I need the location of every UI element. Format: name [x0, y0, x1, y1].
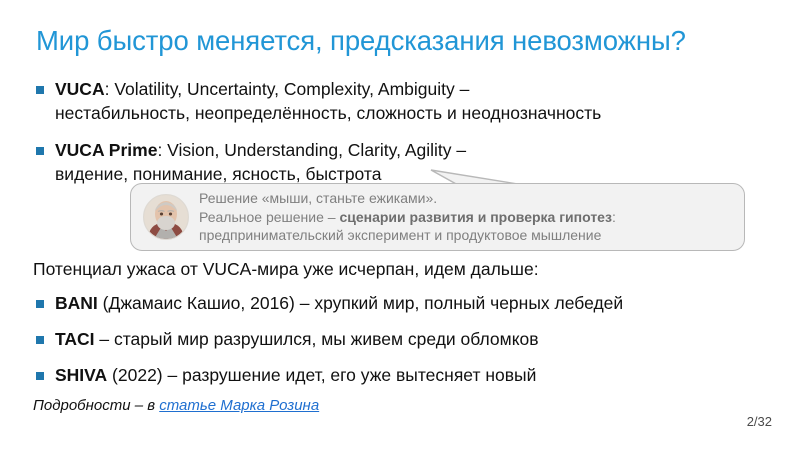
square-bullet-icon: [36, 86, 44, 94]
square-bullet-icon: [36, 336, 44, 344]
square-bullet-icon: [36, 300, 44, 308]
mid-paragraph: Потенциал ужаса от VUCA-мира уже исчерпа…: [33, 258, 539, 281]
bullet-item-taci: TACI – старый мир разрушился, мы живем с…: [36, 328, 766, 352]
bullet-text: VUCA: Volatility, Uncertainty, Complexit…: [55, 78, 601, 125]
bullet-text: TACI – старый мир разрушился, мы живем с…: [55, 328, 539, 352]
article-link[interactable]: статье Марка Розина: [159, 397, 319, 414]
bullet-item-shiva: SHIVA (2022) – разрушение идет, его уже …: [36, 364, 766, 388]
slide-canvas: Мир быстро меняется, предсказания невозм…: [0, 0, 800, 450]
avatar-photo-man: [143, 194, 189, 240]
bullet-line-1: Volatility, Uncertainty, Complexity, Amb…: [114, 79, 469, 99]
footer-note-prefix: Подробности – в: [33, 397, 159, 414]
bullet-rest: (Джамаис Кашио, 2016) – хрупкий мир, пол…: [98, 293, 623, 313]
square-bullet-icon: [36, 372, 44, 380]
bullet-text: BANI (Джамаис Кашио, 2016) – хрупкий мир…: [55, 292, 623, 316]
square-bullet-icon: [36, 147, 44, 155]
bullet-item-vuca-prime: VUCA Prime: Vision, Understanding, Clari…: [36, 139, 756, 186]
callout-line-1: Решение «мыши, станьте ежиками».: [199, 190, 437, 206]
callout-line-2-prefix: Реальное решение –: [199, 209, 339, 225]
bullet-rest: (2022) – разрушение идет, его уже вытесн…: [107, 365, 536, 385]
footer-note: Подробности – в статье Марка Розина: [33, 396, 319, 416]
bullet-term: SHIVA: [55, 365, 107, 385]
bullet-item-vuca: VUCA: Volatility, Uncertainty, Complexit…: [36, 78, 756, 125]
bullet-term: TACI: [55, 329, 95, 349]
callout-bubble: Решение «мыши, станьте ежиками». Реально…: [130, 183, 745, 251]
page-number: 2/32: [747, 414, 772, 429]
callout-line-3: предпринимательский эксперимент и продук…: [199, 227, 601, 243]
bullet-term: BANI: [55, 293, 98, 313]
bullet-line-2: видение, понимание, ясность, быстрота: [55, 164, 381, 184]
page-title: Мир быстро меняется, предсказания невозм…: [36, 24, 776, 58]
callout-text: Решение «мыши, станьте ежиками». Реально…: [199, 189, 616, 245]
bullet-item-bani: BANI (Джамаис Кашио, 2016) – хрупкий мир…: [36, 292, 766, 316]
bullet-rest: – старый мир разрушился, мы живем среди …: [95, 329, 539, 349]
bullet-separator: :: [157, 140, 167, 160]
bullet-text: VUCA Prime: Vision, Understanding, Clari…: [55, 139, 466, 186]
callout-line-2-suffix: :: [612, 209, 616, 225]
bullet-term: VUCA Prime: [55, 140, 157, 160]
bullet-line-1: Vision, Understanding, Clarity, Agility …: [167, 140, 466, 160]
bullet-text: SHIVA (2022) – разрушение идет, его уже …: [55, 364, 536, 388]
bullet-line-2: нестабильность, неопределённость, сложно…: [55, 103, 601, 123]
bullet-separator: :: [105, 79, 115, 99]
callout-line-2-emphasis: сценарии развития и проверка гипотез: [339, 209, 611, 225]
bullet-term: VUCA: [55, 79, 105, 99]
